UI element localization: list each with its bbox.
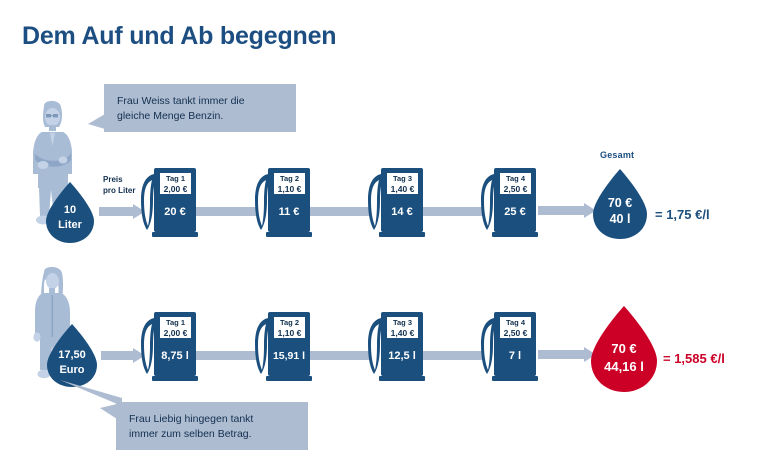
pump-price-label: 2,00 € [160,184,191,195]
pump-foot [266,376,312,381]
pump-amount-label: 7 l [494,350,536,362]
bubble-line-2: immer zum selben Betrag. [129,427,296,442]
pump-display: Tag 4 2,50 € [499,316,532,339]
pump-price-label: 2,50 € [500,184,531,195]
pump-amount-label: 8,75 l [154,350,196,362]
pump-day-label: Tag 2 [274,174,305,184]
pump-amount-label: 12,5 l [381,350,423,362]
arrow-connector-row1-total [538,203,596,223]
connector-row2-2 [310,351,372,360]
pump-row1-day4[interactable]: Tag 4 2,50 € 25 € [480,168,536,238]
arrow-connector-row1-start [99,204,145,224]
pump-day-label: Tag 3 [387,174,418,184]
pump-amount-label: 20 € [154,206,196,218]
page-title: Dem Auf und Ab begegnen [22,22,336,51]
pump-row1-day3[interactable]: Tag 3 1,40 € 14 € [367,168,423,238]
infographic-canvas: Dem Auf und Ab begegnen [0,0,761,467]
bubble-tail [88,114,105,129]
pump-amount-label: 15,91 l [268,350,310,362]
pump-day-label: Tag 1 [160,174,191,184]
label-gesamt: Gesamt [600,150,634,160]
start-drop-row1: 10 Liter [42,181,98,245]
pump-row1-day1[interactable]: Tag 1 2,00 € 20 € [140,168,196,238]
pump-amount-label: 11 € [268,206,310,218]
speech-bubble-frau-liebig: Frau Liebig hingegen tankt immer zum sel… [116,402,308,450]
pump-day-label: Tag 4 [500,174,531,184]
pump-price-label: 1,10 € [274,184,305,195]
pump-foot [379,232,425,237]
total-drop-row1-line2: 40 l [589,212,651,227]
pump-display: Tag 1 2,00 € [159,316,192,339]
total-drop-row2-line2: 44,16 l [586,359,662,374]
pump-display: Tag 3 1,40 € [386,172,419,195]
pump-price-label: 2,50 € [500,328,531,339]
total-drop-row2: 70 € 44,16 l [586,305,662,395]
bubble-leader-line [60,380,130,410]
pump-price-label: 1,40 € [387,184,418,195]
speech-bubble-frau-weiss: Frau Weiss tankt immer die gleiche Menge… [104,84,296,132]
preis-line-2: pro Liter [103,185,135,196]
pump-foot [492,232,538,237]
total-drop-row1-line1: 70 € [589,196,651,211]
pump-foot [379,376,425,381]
pump-display: Tag 1 2,00 € [159,172,192,195]
pump-day-label: Tag 1 [160,318,191,328]
pump-foot [266,232,312,237]
pump-amount-label: 14 € [381,206,423,218]
result-row2: = 1,585 €/l [663,351,725,366]
label-preis-pro-liter: Preis pro Liter [103,174,135,196]
pump-row2-day2[interactable]: Tag 2 1,10 € 15,91 l [254,312,310,382]
pump-amount-label: 25 € [494,206,536,218]
pump-price-label: 1,40 € [387,328,418,339]
pump-display: Tag 3 1,40 € [386,316,419,339]
bubble-line-1: Frau Weiss tankt immer die [117,94,284,109]
connector-row1-1 [195,207,257,216]
start-drop-row2-line1: 17,50 [42,348,102,363]
pump-foot [152,376,198,381]
pump-row2-day4[interactable]: Tag 4 2,50 € 7 l [480,312,536,382]
start-drop-row2-line2: Euro [42,363,102,378]
pump-price-label: 1,10 € [274,328,305,339]
pump-display: Tag 2 1,10 € [273,172,306,195]
bubble-line-1: Frau Liebig hingegen tankt [129,412,296,427]
pump-display: Tag 4 2,50 € [499,172,532,195]
pump-row2-day1[interactable]: Tag 1 2,00 € 8,75 l [140,312,196,382]
start-drop-row1-line1: 10 [42,203,98,218]
pump-row2-day3[interactable]: Tag 3 1,40 € 12,5 l [367,312,423,382]
pump-display: Tag 2 1,10 € [273,316,306,339]
pump-price-label: 2,00 € [160,328,191,339]
connector-row2-1 [195,351,257,360]
pump-row1-day2[interactable]: Tag 2 1,10 € 11 € [254,168,310,238]
start-drop-row1-line2: Liter [42,218,98,233]
connector-row1-3 [423,207,485,216]
total-drop-row2-line1: 70 € [586,341,662,356]
pump-foot [152,232,198,237]
arrow-connector-row2-start [101,348,145,368]
connector-row1-2 [310,207,372,216]
preis-line-1: Preis [103,174,135,185]
total-drop-row1: 70 € 40 l [589,168,651,242]
pump-day-label: Tag 4 [500,318,531,328]
connector-row2-3 [423,351,485,360]
bubble-line-2: gleiche Menge Benzin. [117,109,284,124]
pump-foot [492,376,538,381]
pump-day-label: Tag 2 [274,318,305,328]
result-row1: = 1,75 €/l [655,207,710,222]
pump-day-label: Tag 3 [387,318,418,328]
